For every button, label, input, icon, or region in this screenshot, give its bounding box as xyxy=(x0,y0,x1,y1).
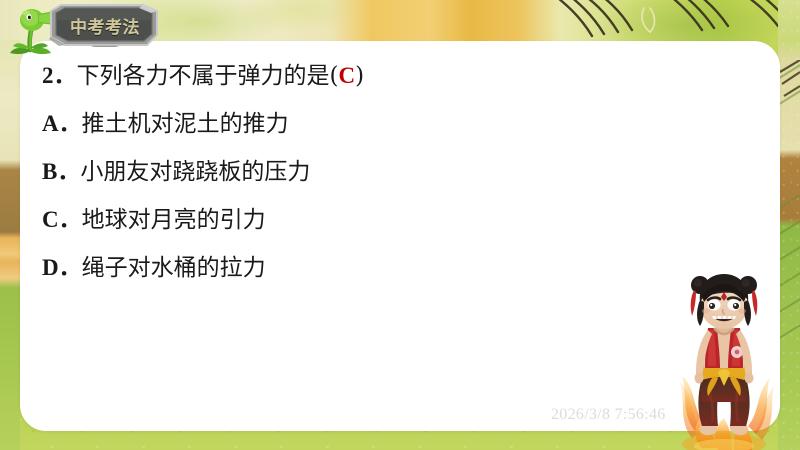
option-letter-c: C． xyxy=(42,196,82,243)
option-row-a: A．推土机对泥土的推力 xyxy=(42,100,642,148)
option-row-b: B．小朋友对跷跷板的压力 xyxy=(42,148,642,196)
answer-key: C xyxy=(338,63,355,88)
nezha-character-icon xyxy=(662,272,786,450)
option-letter-a: A． xyxy=(42,100,82,147)
background-left-strip xyxy=(0,40,20,450)
header-banner: 中考考法 xyxy=(47,3,161,47)
answer-paren-close: ) xyxy=(355,63,364,89)
question-block: 2．下列各力不属于弹力的是(C) A．推土机对泥土的推力 B．小朋友对跷跷板的压… xyxy=(42,52,642,292)
option-text-b: 小朋友对跷跷板的压力 xyxy=(80,159,310,185)
option-row-c: C．地球对月亮的引力 xyxy=(42,196,642,244)
option-row-d: D．绳子对水桶的拉力 xyxy=(42,244,642,292)
header-banner-label: 中考考法 xyxy=(47,3,161,47)
timestamp-label: 2026/3/8 7:56:46 xyxy=(551,406,666,424)
question-stem-line: 2．下列各力不属于弹力的是(C) xyxy=(42,52,642,100)
option-text-a: 推土机对泥土的推力 xyxy=(82,111,289,137)
question-stem-text: 下列各力不属于弹力的是 xyxy=(77,63,330,89)
slide-canvas: 中考考法 2．下列各力不属于弹力的是(C) A．推土机对泥土的推力 B．小朋友对… xyxy=(0,0,800,450)
option-text-d: 绳子对水桶的拉力 xyxy=(82,255,266,281)
question-number: 2． xyxy=(42,63,77,88)
option-letter-b: B． xyxy=(42,148,80,195)
option-text-c: 地球对月亮的引力 xyxy=(82,207,266,233)
option-letter-d: D． xyxy=(42,244,82,291)
